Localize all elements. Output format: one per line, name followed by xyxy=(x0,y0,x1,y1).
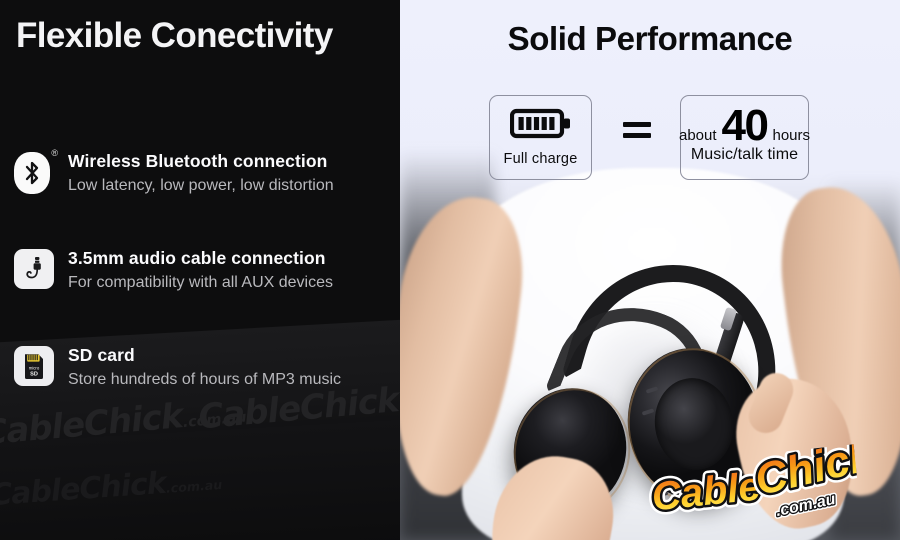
registered-trademark-icon: ® xyxy=(51,149,58,158)
feature-subtext: For compatibility with all AUX devices xyxy=(68,273,394,294)
hours-unit: hours xyxy=(772,127,810,144)
hours-value: 40 xyxy=(722,107,768,145)
feature-subtext: Store hundreds of hours of MP3 music xyxy=(68,370,394,391)
svg-text:Cable: Cable xyxy=(650,464,763,519)
features-panel: CableChick.com.au CableChick.com.au Cabl… xyxy=(0,0,400,540)
svg-text:SD: SD xyxy=(30,372,38,378)
feature-subtext: Low latency, low power, low distortion xyxy=(68,176,394,197)
battery-life-card: about 40 hours Music/talk time xyxy=(680,95,809,180)
feature-heading: SD card xyxy=(68,345,394,367)
equals-sign-icon xyxy=(623,122,651,140)
svg-text:micro: micro xyxy=(29,366,40,371)
audio-jack-icon xyxy=(14,249,54,289)
full-charge-label: Full charge xyxy=(504,151,578,167)
right-panel-title: Solid Performance xyxy=(400,20,900,58)
feature-item-sd-card: micro SD SD card Store hundreds of hours… xyxy=(14,344,394,412)
microsd-card-icon: micro SD xyxy=(14,346,54,386)
full-charge-card: Full charge xyxy=(489,95,592,180)
left-panel-title: Flexible Conectivity xyxy=(16,16,388,56)
feature-heading: 3.5mm audio cable connection xyxy=(68,248,394,270)
feature-item-audio-cable: 3.5mm audio cable connection For compati… xyxy=(14,247,394,315)
music-talk-time-label: Music/talk time xyxy=(691,146,798,164)
performance-badges: Full charge about 40 hours Music/talk ti… xyxy=(400,95,900,190)
feature-heading: Wireless Bluetooth connection xyxy=(68,151,394,173)
feature-item-bluetooth: ® Wireless Bluetooth connection Low late… xyxy=(14,150,394,218)
feature-list: ® Wireless Bluetooth connection Low late… xyxy=(14,150,394,441)
promo-image: CableChick.com.au CableChick.com.au Cabl… xyxy=(0,0,900,540)
bluetooth-icon: ® xyxy=(14,152,54,192)
full-battery-icon xyxy=(510,108,572,144)
about-label: about xyxy=(679,127,717,144)
